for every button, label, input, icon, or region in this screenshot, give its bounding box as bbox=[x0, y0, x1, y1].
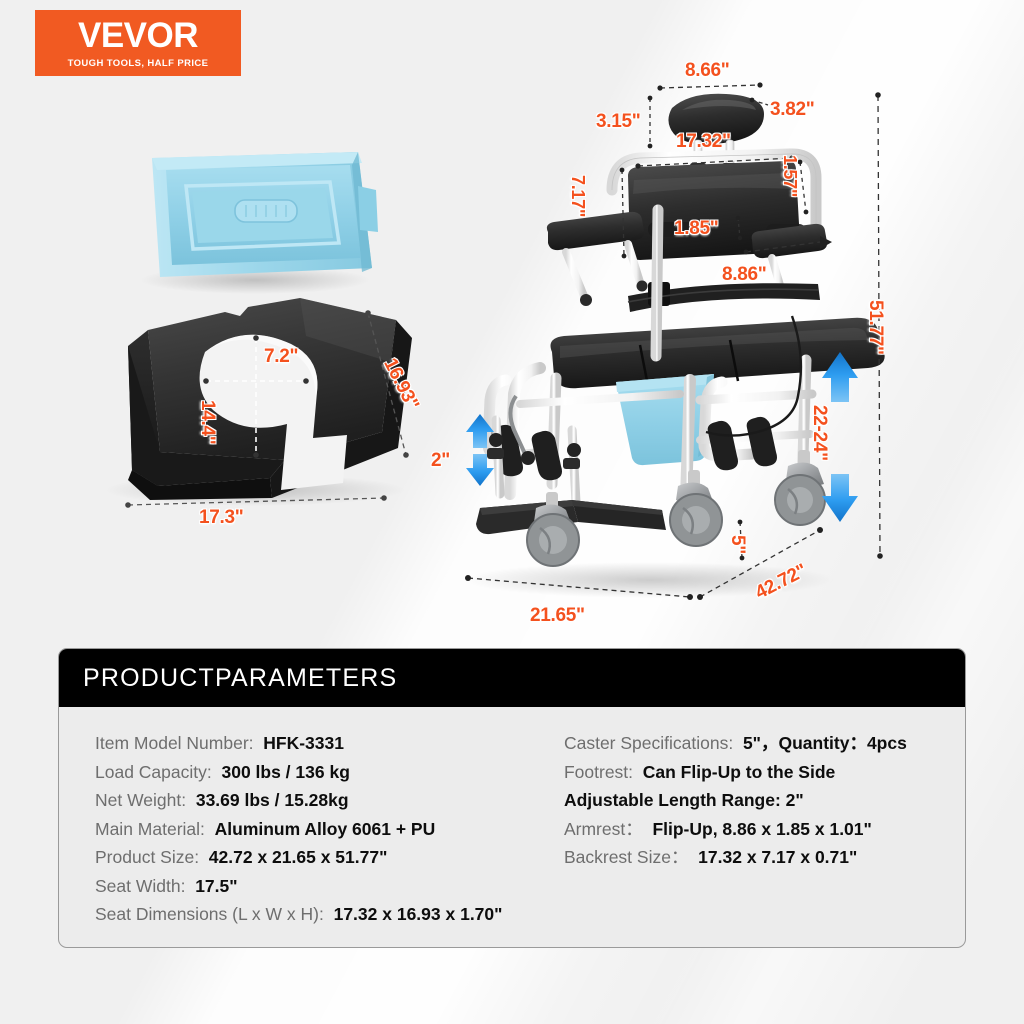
parameters-header: PRODUCTPARAMETERS bbox=[59, 649, 965, 707]
parameter-row: Product Size: 42.72 x 21.65 x 51.77" bbox=[95, 843, 528, 872]
dimension-label-backrest-height: 7.17" bbox=[567, 175, 588, 217]
parameter-label: Load Capacity: bbox=[95, 762, 212, 782]
parameter-row: Main Material: Aluminum Alloy 6061 + PU bbox=[95, 815, 528, 844]
seat-cushion-illustration bbox=[105, 298, 412, 506]
parameter-label: Item Model Number: bbox=[95, 733, 254, 753]
parameter-label: Product Size: bbox=[95, 847, 199, 867]
shower-commode-chair-illustration bbox=[465, 94, 885, 598]
parameter-value: 300 lbs / 136 kg bbox=[212, 762, 350, 782]
parameter-value: 42.72 x 21.65 x 51.77" bbox=[199, 847, 387, 867]
parameter-value: 5"，Quantity：4pcs bbox=[733, 733, 907, 753]
parameter-row: Net Weight: 33.69 lbs / 15.28kg bbox=[95, 786, 528, 815]
parameters-body: Item Model Number: HFK-3331Load Capacity… bbox=[59, 707, 965, 947]
parameter-label: Adjustable Length Range: 2" bbox=[564, 790, 804, 810]
dimension-label-caster-size: 5" bbox=[726, 535, 748, 554]
vevor-logo: VEVOR TOUGH TOOLS, HALF PRICE bbox=[35, 10, 241, 76]
parameters-right-column: Caster Specifications: 5"，Quantity：4pcsF… bbox=[528, 729, 965, 947]
parameters-left-column: Item Model Number: HFK-3331Load Capacity… bbox=[59, 729, 528, 947]
parameter-row: Armrest： Flip-Up, 8.86 x 1.85 x 1.01" bbox=[564, 815, 965, 844]
parameter-row: Item Model Number: HFK-3331 bbox=[95, 729, 528, 758]
parameter-label: Net Weight: bbox=[95, 790, 186, 810]
parameter-label: Main Material: bbox=[95, 819, 205, 839]
dimension-label-cushion-opening-depth: 14.4" bbox=[196, 400, 218, 445]
product-parameters-panel: PRODUCTPARAMETERS Item Model Number: HFK… bbox=[58, 648, 966, 948]
parameter-value: 17.5" bbox=[185, 876, 237, 896]
parameter-row: Caster Specifications: 5"，Quantity：4pcs bbox=[564, 729, 965, 758]
parameter-row: Footrest: Can Flip-Up to the Side bbox=[564, 758, 965, 787]
parameter-label: Caster Specifications: bbox=[564, 733, 733, 753]
dimension-label-seat-height-range: 22-24" bbox=[808, 405, 830, 461]
parameter-value: Aluminum Alloy 6061 + PU bbox=[205, 819, 435, 839]
brand-wordmark: VEVOR bbox=[78, 18, 198, 53]
dimension-label-overall-width: 21.65" bbox=[530, 605, 585, 627]
dimension-label-cushion-width: 17.3" bbox=[199, 507, 244, 529]
parameter-row: Seat Width: 17.5" bbox=[95, 872, 528, 901]
parameter-value: Flip-Up, 8.86 x 1.85 x 1.01" bbox=[643, 819, 872, 839]
parameter-value: 17.32 x 7.17 x 0.71" bbox=[688, 847, 857, 867]
dimension-label-footrest-adjust: 2" bbox=[431, 450, 450, 472]
seat-height-arrow-down bbox=[822, 474, 858, 522]
page-title: PRODUCTPARAMETERS bbox=[83, 664, 397, 693]
parameter-label: Seat Dimensions (L x W x H): bbox=[95, 904, 324, 924]
dimension-label-headrest-width: 8.66" bbox=[685, 60, 730, 82]
dimension-label-armrest-length: 8.86" bbox=[722, 264, 767, 286]
dimension-label-armrest-thickness: 1.85" bbox=[674, 218, 719, 240]
parameter-value: Can Flip-Up to the Side bbox=[633, 762, 835, 782]
dimension-label-overall-height: 51.77" bbox=[864, 300, 886, 355]
dimension-label-cushion-opening-width: 7.2" bbox=[264, 346, 298, 368]
parameter-label: Backrest Size： bbox=[564, 847, 688, 867]
parameter-value: HFK-3331 bbox=[254, 733, 344, 753]
parameter-row: Backrest Size： 17.32 x 7.17 x 0.71" bbox=[564, 843, 965, 872]
dimension-label-backrest-thickness: 1.57" bbox=[779, 155, 800, 197]
parameter-label: Seat Width: bbox=[95, 876, 185, 896]
brand-tagline: TOUGH TOOLS, HALF PRICE bbox=[68, 58, 209, 69]
commode-bucket-illustration bbox=[140, 152, 378, 294]
dimension-label-headrest-depth: 3.82" bbox=[770, 99, 815, 121]
parameter-row: Seat Dimensions (L x W x H): 17.32 x 16.… bbox=[95, 900, 528, 929]
dimension-label-backrest-width: 17.32" bbox=[676, 131, 731, 153]
dimension-label-headrest-height: 3.15" bbox=[596, 111, 641, 133]
parameter-row: Adjustable Length Range: 2" bbox=[564, 786, 965, 815]
parameter-row: Load Capacity: 300 lbs / 136 kg bbox=[95, 758, 528, 787]
parameter-label: Footrest: bbox=[564, 762, 633, 782]
parameter-label: Armrest： bbox=[564, 819, 643, 839]
parameter-value: 17.32 x 16.93 x 1.70" bbox=[324, 904, 503, 924]
parameter-value: 33.69 lbs / 15.28kg bbox=[186, 790, 348, 810]
